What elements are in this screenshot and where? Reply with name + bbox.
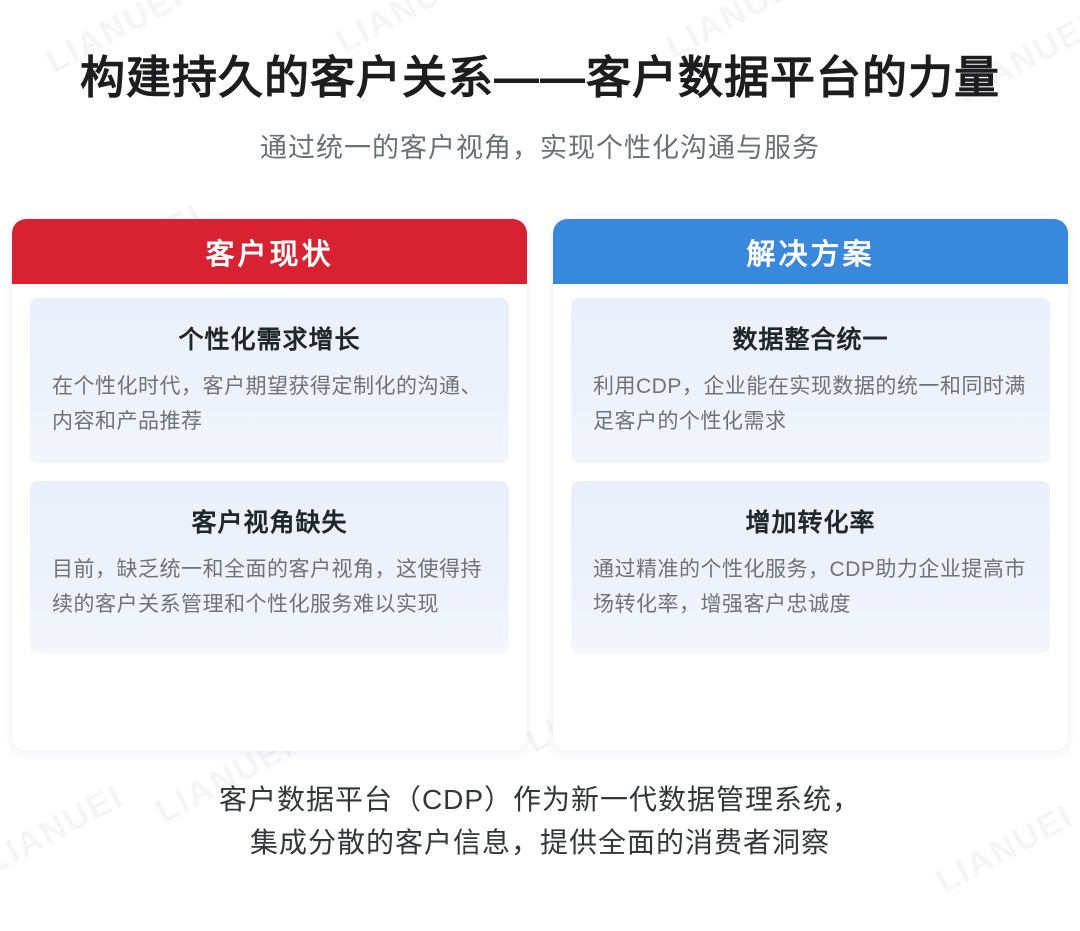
card-header-title: 客户现状 <box>205 231 333 273</box>
card-solution: 解决方案 数据整合统一 利用CDP，企业能在实现数据的统一和同时满足客户的个性化… <box>553 219 1068 751</box>
footer-line-1: 客户数据平台（CDP）作为新一代数据管理系统， <box>0 778 1080 821</box>
panel-title: 客户视角缺失 <box>52 503 487 539</box>
comparison-columns: 客户现状 个性化需求增长 在个性化时代，客户期望获得定制化的沟通、内容和产品推荐… <box>12 219 1068 751</box>
card-body-solution: 数据整合统一 利用CDP，企业能在实现数据的统一和同时满足客户的个性化需求 增加… <box>553 284 1068 751</box>
panel-item: 客户视角缺失 目前，缺乏统一和全面的客户视角，这使得持续的客户关系管理和个性化服… <box>30 481 509 652</box>
card-current-state: 客户现状 个性化需求增长 在个性化时代，客户期望获得定制化的沟通、内容和产品推荐… <box>12 219 527 751</box>
panel-item: 数据整合统一 利用CDP，企业能在实现数据的统一和同时满足客户的个性化需求 <box>571 298 1050 463</box>
footer-line-2: 集成分散的客户信息，提供全面的消费者洞察 <box>0 821 1080 864</box>
panel-text: 目前，缺乏统一和全面的客户视角，这使得持续的客户关系管理和个性化服务难以实现 <box>52 553 487 622</box>
card-header-title: 解决方案 <box>746 231 874 273</box>
header-block: 构建持久的客户关系——客户数据平台的力量 通过统一的客户视角，实现个性化沟通与服… <box>0 0 1080 165</box>
page-subtitle: 通过统一的客户视角，实现个性化沟通与服务 <box>0 126 1080 165</box>
card-header-current-state: 客户现状 <box>12 219 527 284</box>
card-body-current-state: 个性化需求增长 在个性化时代，客户期望获得定制化的沟通、内容和产品推荐 客户视角… <box>12 284 527 751</box>
panel-text: 在个性化时代，客户期望获得定制化的沟通、内容和产品推荐 <box>52 370 487 439</box>
panel-title: 数据整合统一 <box>593 320 1028 356</box>
page-title: 构建持久的客户关系——客户数据平台的力量 <box>0 50 1080 106</box>
panel-text: 通过精准的个性化服务，CDP助力企业提高市场转化率，增强客户忠诚度 <box>593 553 1028 622</box>
footer-block: 客户数据平台（CDP）作为新一代数据管理系统， 集成分散的客户信息，提供全面的消… <box>0 778 1080 865</box>
infographic-page: 构建持久的客户关系——客户数据平台的力量 通过统一的客户视角，实现个性化沟通与服… <box>0 0 1080 931</box>
panel-text: 利用CDP，企业能在实现数据的统一和同时满足客户的个性化需求 <box>593 370 1028 439</box>
panel-title: 增加转化率 <box>593 503 1028 539</box>
panel-item: 个性化需求增长 在个性化时代，客户期望获得定制化的沟通、内容和产品推荐 <box>30 298 509 463</box>
panel-item: 增加转化率 通过精准的个性化服务，CDP助力企业提高市场转化率，增强客户忠诚度 <box>571 481 1050 652</box>
card-header-solution: 解决方案 <box>553 219 1068 284</box>
panel-title: 个性化需求增长 <box>52 320 487 356</box>
